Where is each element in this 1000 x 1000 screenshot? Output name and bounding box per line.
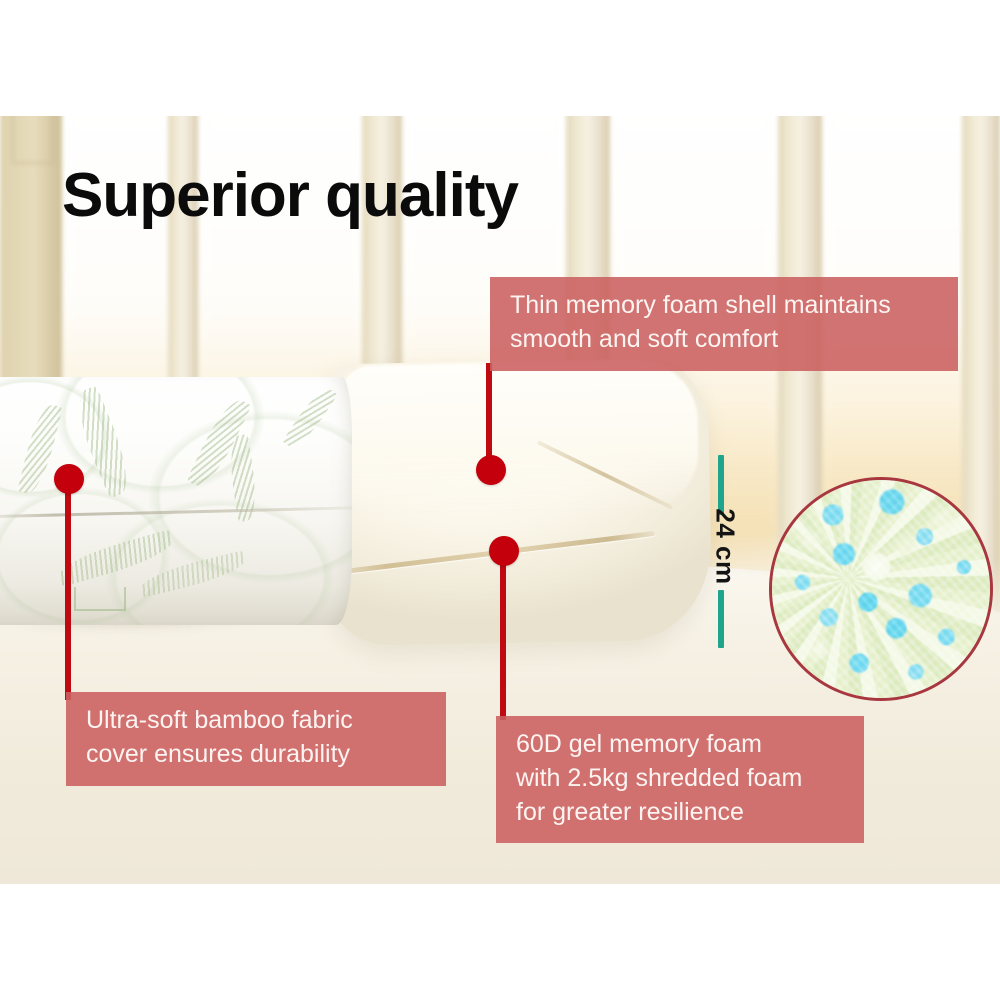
jacquard-leaf-motif [282, 383, 338, 452]
leader-line-foam [500, 552, 506, 720]
bottom-white-band [0, 884, 1000, 1000]
callout-marker-shell[interactable] [476, 455, 506, 485]
callout-foam-line-3: for greater resilience [516, 796, 846, 830]
shredded-gel-foam-texture [772, 480, 990, 698]
callout-cover-line-2: cover ensures durability [86, 738, 428, 772]
product-feature-image: Superior quality Thin memory foam shell … [0, 0, 1000, 1000]
callout-label-shell: Thin memory foam shell maintains smooth … [490, 277, 958, 371]
bamboo-fabric-cover [0, 377, 352, 625]
top-white-band [0, 0, 1000, 116]
callout-shell-line-2: smooth and soft comfort [510, 323, 940, 357]
dimension-line-bottom [718, 590, 724, 648]
callout-cover-line-1: Ultra-soft bamboo fabric [86, 704, 428, 738]
dimension-label: 24 cm [690, 498, 760, 594]
callout-foam-line-2: with 2.5kg shredded foam [516, 762, 846, 796]
callout-label-foam: 60D gel memory foam with 2.5kg shredded … [496, 716, 864, 843]
cover-woven-logo [74, 587, 126, 611]
cover-seam [0, 506, 352, 518]
callout-label-cover: Ultra-soft bamboo fabric cover ensures d… [66, 692, 446, 786]
leader-line-cover [65, 478, 71, 700]
callout-foam-line-1: 60D gel memory foam [516, 728, 846, 762]
callout-marker-cover[interactable] [54, 464, 84, 494]
pillow [0, 355, 730, 655]
page-title: Superior quality [62, 165, 518, 227]
gel-foam-inset [769, 477, 993, 701]
dimension-value: 24 cm [710, 508, 741, 584]
callout-shell-line-1: Thin memory foam shell maintains [510, 289, 940, 323]
window-jamb-moulding [12, 108, 54, 164]
jacquard-leaf-motif [137, 550, 249, 598]
leader-line-shell [486, 363, 492, 468]
callout-marker-foam[interactable] [489, 536, 519, 566]
